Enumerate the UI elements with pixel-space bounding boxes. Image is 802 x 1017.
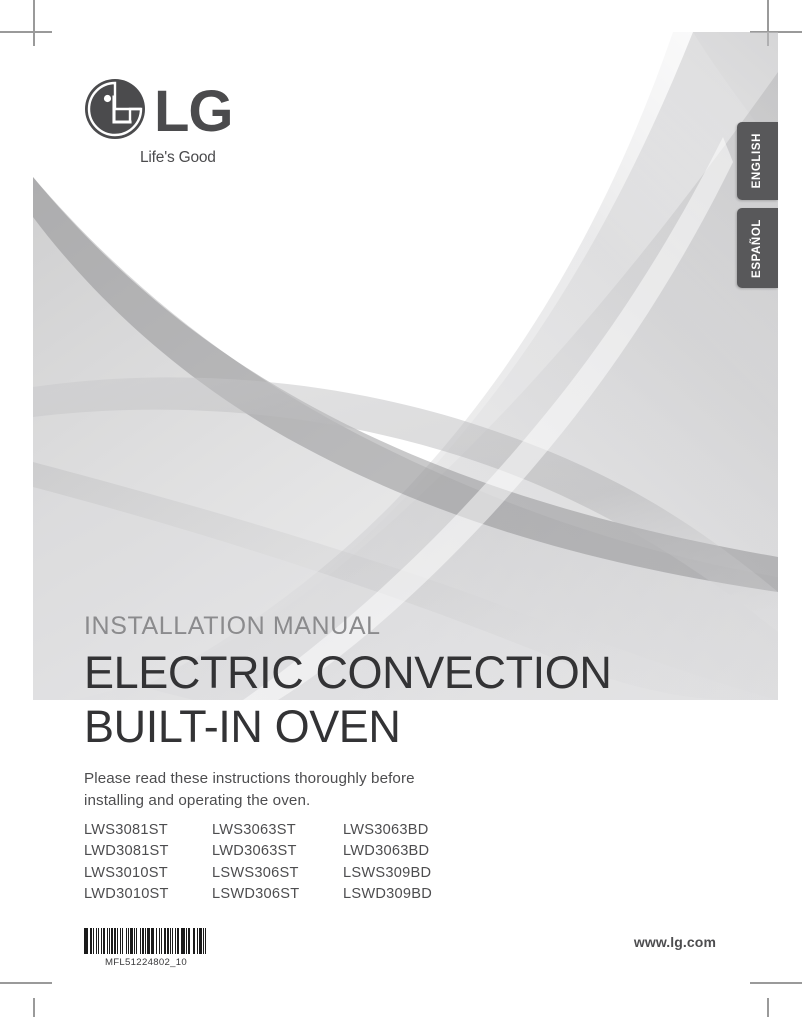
language-tab-espanol-label: ESPAÑOL xyxy=(752,219,764,278)
model-number: LSWS306ST xyxy=(212,863,343,884)
lg-logo-wordmark: LG xyxy=(154,87,233,137)
lg-logo-row: LG xyxy=(84,78,244,145)
crop-mark-top-right-vertical xyxy=(767,0,769,46)
manual-type-kicker: INSTALLATION MANUAL xyxy=(84,612,724,642)
model-number: LWS3063ST xyxy=(212,820,343,841)
crop-mark-top-left-horizontal xyxy=(0,31,52,33)
crop-mark-bottom-left-vertical xyxy=(33,998,35,1017)
model-number: LWD3063BD xyxy=(343,841,432,862)
crop-mark-bottom-right-vertical xyxy=(767,998,769,1017)
cover-subtitle: Please read these instructions thoroughl… xyxy=(84,768,724,811)
crop-mark-bottom-left-horizontal xyxy=(0,982,52,984)
manual-cover-page: ENGLISH ESPAÑOL LG Life's Good INSTALLAT… xyxy=(0,0,802,1017)
lg-logo-tagline: Life's Good xyxy=(140,149,244,167)
model-number: LWD3063ST xyxy=(212,841,343,862)
model-number: LWS3063BD xyxy=(343,820,432,841)
model-number-grid: LWS3081ST LWS3063ST LWS3063BD LWD3081ST … xyxy=(84,820,432,906)
model-number: LWD3081ST xyxy=(84,841,212,862)
lg-face-logo-icon xyxy=(84,78,146,145)
part-number-label: MFL51224802_10 xyxy=(84,957,208,968)
language-tabs: ENGLISH ESPAÑOL xyxy=(737,122,778,288)
cover-title-block: INSTALLATION MANUAL ELECTRIC CONVECTION … xyxy=(84,612,724,812)
barcode-icon xyxy=(84,928,208,954)
lg-logo: LG Life's Good xyxy=(84,78,244,167)
crop-mark-top-right-horizontal xyxy=(750,31,802,33)
model-number: LSWD309BD xyxy=(343,884,432,905)
model-number: LSWS309BD xyxy=(343,863,432,884)
crop-mark-top-left-vertical xyxy=(33,0,35,46)
model-number: LWS3010ST xyxy=(84,863,212,884)
language-tab-espanol[interactable]: ESPAÑOL xyxy=(737,208,778,288)
language-tab-english-label: ENGLISH xyxy=(752,133,764,188)
model-number: LSWD306ST xyxy=(212,884,343,905)
barcode-block: MFL51224802_10 xyxy=(84,928,208,968)
website-url: www.lg.com xyxy=(634,934,716,950)
crop-mark-bottom-right-horizontal xyxy=(750,982,802,984)
language-tab-english[interactable]: ENGLISH xyxy=(737,122,778,200)
page-title: ELECTRIC CONVECTION BUILT-IN OVEN xyxy=(84,646,724,755)
model-number: LWD3010ST xyxy=(84,884,212,905)
model-number: LWS3081ST xyxy=(84,820,212,841)
